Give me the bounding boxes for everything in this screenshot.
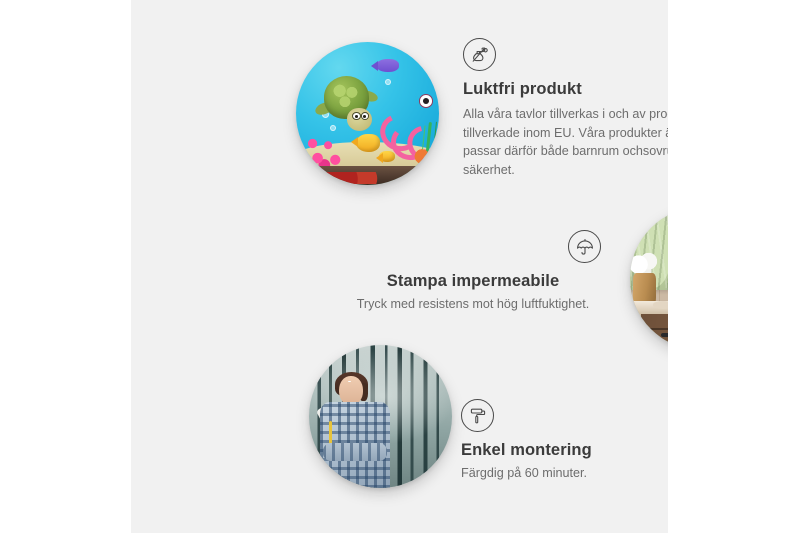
feature-title: Luktfri produkt <box>463 80 668 99</box>
octopus-icon <box>379 85 439 154</box>
folded-arms <box>323 443 387 461</box>
product-image-forest <box>309 345 452 488</box>
sea-bottom-strip <box>296 166 439 185</box>
bathroom-scene <box>630 207 668 350</box>
cabinet-handle <box>661 333 668 337</box>
feature-description: Alla våra tavlor tillverkas i och av pro… <box>463 105 668 180</box>
smile <box>348 381 351 382</box>
content-panel: Luktfri produkt Alla våra tavlor tillver… <box>131 0 668 533</box>
woman-with-roller <box>315 376 395 488</box>
starfish-icon <box>408 145 437 168</box>
underwater-scene <box>296 42 439 185</box>
turtle-head <box>347 108 372 131</box>
product-image-bathroom <box>630 207 668 350</box>
coral-icon <box>305 128 348 171</box>
feature-description: Tryck med resistens mot hög luftfuktighe… <box>345 295 601 314</box>
product-feature-infographic: Luktfri produkt Alla våra tavlor tillver… <box>0 0 800 533</box>
purple-fish-icon <box>376 59 399 72</box>
soap-dish <box>653 301 668 308</box>
wooden-cabinet <box>641 314 668 350</box>
octopus-head <box>393 85 439 128</box>
turtle-eye <box>352 112 361 120</box>
yellow-fish-icon <box>356 134 380 153</box>
octopus-eye <box>419 94 433 108</box>
turtle-icon <box>319 76 382 133</box>
feature-title: Stampa impermeabile <box>345 272 601 291</box>
face <box>339 376 363 405</box>
feature-title: Enkel montering <box>461 441 668 460</box>
no-odour-icon <box>463 38 496 71</box>
feature-odourless: Luktfri produkt Alla våra tavlor tillver… <box>463 38 668 180</box>
turtle-eye <box>361 112 370 120</box>
feature-waterproof: Stampa impermeabile Tryck med resistens … <box>345 230 601 314</box>
forest-scene <box>309 345 452 488</box>
product-image-underwater <box>296 42 439 185</box>
umbrella-icon <box>568 230 601 263</box>
feature-assembly: Enkel montering Färgdig på 60 minuter. <box>461 399 668 483</box>
feature-description: Färgdig på 60 minuter. <box>461 464 668 483</box>
yellow-fish-icon <box>379 151 395 162</box>
cabinet-seam <box>641 328 668 330</box>
paint-roller-icon <box>461 399 494 432</box>
